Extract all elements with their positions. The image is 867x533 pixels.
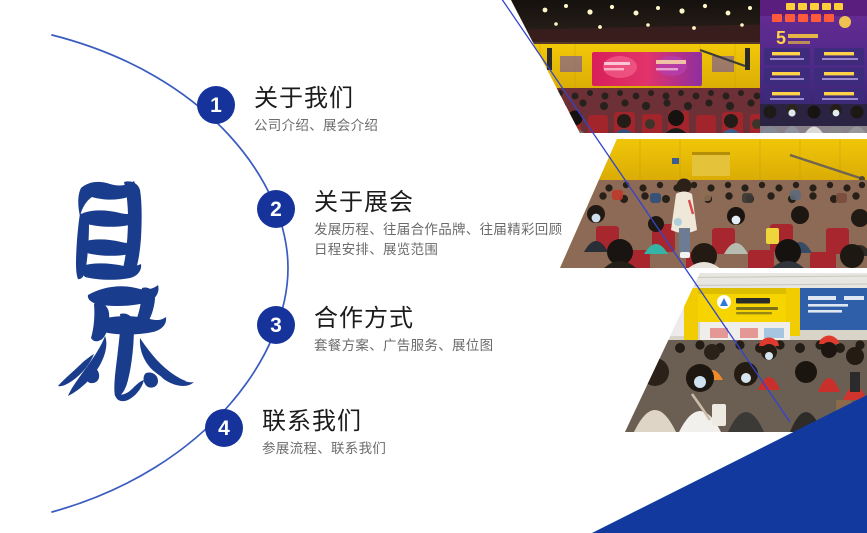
standing-woman: [671, 179, 697, 259]
toc-desc-4: 参展流程、联系我们: [262, 439, 386, 459]
toc-text-4: 联系我们 参展流程、联系我们: [262, 409, 386, 459]
toc-desc-2-line-2: 日程安排、展览范围: [314, 240, 562, 260]
toc-desc-2-line-1: 发展历程、往届合作品牌、往届精彩回顾: [314, 220, 562, 240]
toc-item-1[interactable]: 1 关于我们 公司介绍、展会介绍: [197, 86, 378, 136]
toc-text-1: 关于我们 公司介绍、展会介绍: [254, 86, 378, 136]
toc-text-2: 关于展会 发展历程、往届合作品牌、往届精彩回顾 日程安排、展览范围: [314, 190, 562, 259]
diagonal-line-bottom: [700, 290, 790, 422]
wedge-shape: [592, 395, 867, 533]
toc-title-2: 关于展会: [314, 190, 562, 217]
toc-badge-2: 2: [257, 190, 295, 228]
photo-conference-hall: [505, 0, 867, 135]
toc-desc-3-line-1: 套餐方案、广告服务、展位图: [314, 336, 493, 356]
toc-title-1: 关于我们: [254, 86, 378, 113]
toc-desc-4-line-1: 参展流程、联系我们: [262, 439, 386, 459]
toc-desc-1: 公司介绍、展会介绍: [254, 116, 378, 136]
photo-purple-booth: 5: [758, 0, 867, 135]
toc-title-3: 合作方式: [314, 306, 493, 333]
toc-desc-3: 套餐方案、广告服务、展位图: [314, 336, 493, 356]
toc-badge-1: 1: [197, 86, 235, 124]
toc-item-2[interactable]: 2 关于展会 发展历程、往届合作品牌、往届精彩回顾 日程安排、展览范围: [257, 190, 562, 259]
photo-audience-seated: [556, 136, 867, 272]
calligraphy-mulu: [58, 168, 198, 403]
toc-title-4: 联系我们: [262, 409, 386, 436]
toc-badge-3: 3: [257, 306, 295, 344]
photo-exhibition-booth: [620, 270, 867, 435]
toc-item-3[interactable]: 3 合作方式 套餐方案、广告服务、展位图: [257, 306, 493, 356]
toc-badge-4: 4: [205, 409, 243, 447]
toc-item-4[interactable]: 4 联系我们 参展流程、联系我们: [205, 409, 386, 459]
svg-text:5: 5: [776, 28, 786, 48]
toc-desc-1-line-1: 公司介绍、展会介绍: [254, 116, 378, 136]
toc-desc-2: 发展历程、往届合作品牌、往届精彩回顾 日程安排、展览范围: [314, 220, 562, 259]
photo-separators: [556, 136, 867, 271]
toc-text-3: 合作方式 套餐方案、广告服务、展位图: [314, 306, 493, 356]
slide-canvas: 1 关于我们 公司介绍、展会介绍 2 关于展会 发展历程、往届合作品牌、往届精彩…: [0, 0, 867, 533]
